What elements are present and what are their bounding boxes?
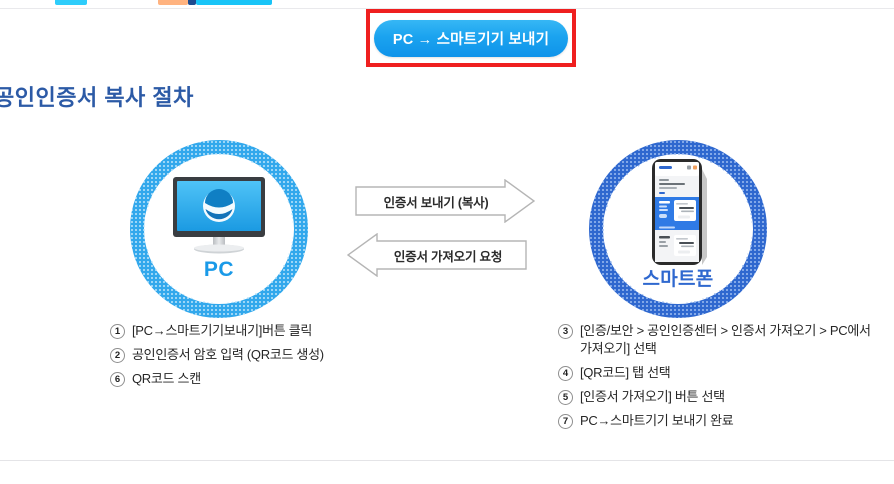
- arrow-send-certificate-label: 인증서 보내기 (복사): [355, 179, 535, 223]
- tab-chip-dark[interactable]: [188, 0, 196, 5]
- arrow-request-certificate: 인증서 가져오기 요청: [347, 233, 527, 277]
- send-to-smart-device-button[interactable]: PC → 스마트기기 보내기: [374, 20, 568, 57]
- tab-chip-cyan-left[interactable]: [55, 0, 87, 5]
- step-number: 7: [558, 414, 573, 429]
- tab-chip-cyan-right[interactable]: [196, 0, 272, 5]
- pc-label: PC: [130, 258, 308, 282]
- list-item: 3 [인증/보안 > 공인인증센터 > 인증서 가져오기 > PC에서 가져오기…: [558, 322, 878, 358]
- step-number: 1: [110, 324, 125, 339]
- pc-monitor-icon: [172, 176, 266, 256]
- step-number: 6: [110, 372, 125, 387]
- step-text: QR코드 스캔: [132, 370, 201, 388]
- step-number: 2: [110, 348, 125, 363]
- list-item: 4 [QR코드] 탭 선택: [558, 364, 878, 382]
- steps-list-smartphone: 3 [인증/보안 > 공인인증센터 > 인증서 가져오기 > PC에서 가져오기…: [558, 322, 878, 436]
- step-text: [인증서 가져오기] 버튼 선택: [580, 388, 725, 406]
- step-number: 5: [558, 390, 573, 405]
- arrow-send-certificate: 인증서 보내기 (복사): [355, 179, 535, 223]
- arrow-request-certificate-label: 인증서 가져오기 요청: [347, 233, 527, 277]
- step-number: 3: [558, 324, 573, 339]
- list-item: 1 [PC→스마트기기보내기]버튼 클릭: [110, 322, 410, 340]
- step-text: 공인인증서 암호 입력 (QR코드 생성): [132, 346, 324, 364]
- step-text: [PC→스마트기기보내기]버튼 클릭: [132, 322, 312, 340]
- list-item: 7 PC→스마트기기 보내기 완료: [558, 412, 878, 430]
- list-item: 6 QR코드 스캔: [110, 370, 410, 388]
- bottom-divider: [0, 460, 894, 461]
- list-item: 5 [인증서 가져오기] 버튼 선택: [558, 388, 878, 406]
- step-text: [인증/보안 > 공인인증센터 > 인증서 가져오기 > PC에서 가져오기] …: [580, 322, 878, 358]
- page-root: PC → 스마트기기 보내기 공인인증서 복사 절차: [0, 0, 894, 484]
- tab-chip-orange[interactable]: [158, 0, 188, 5]
- step-text: PC→스마트기기 보내기 완료: [580, 412, 733, 430]
- steps-list-pc: 1 [PC→스마트기기보내기]버튼 클릭 2 공인인증서 암호 입력 (QR코드…: [110, 322, 410, 394]
- page-title: 공인인증서 복사 절차: [0, 80, 194, 112]
- smartphone-icon: [648, 157, 710, 269]
- list-item: 2 공인인증서 암호 입력 (QR코드 생성): [110, 346, 410, 364]
- smartphone-label: 스마트폰: [589, 264, 767, 291]
- step-number: 4: [558, 366, 573, 381]
- step-text: [QR코드] 탭 선택: [580, 364, 670, 382]
